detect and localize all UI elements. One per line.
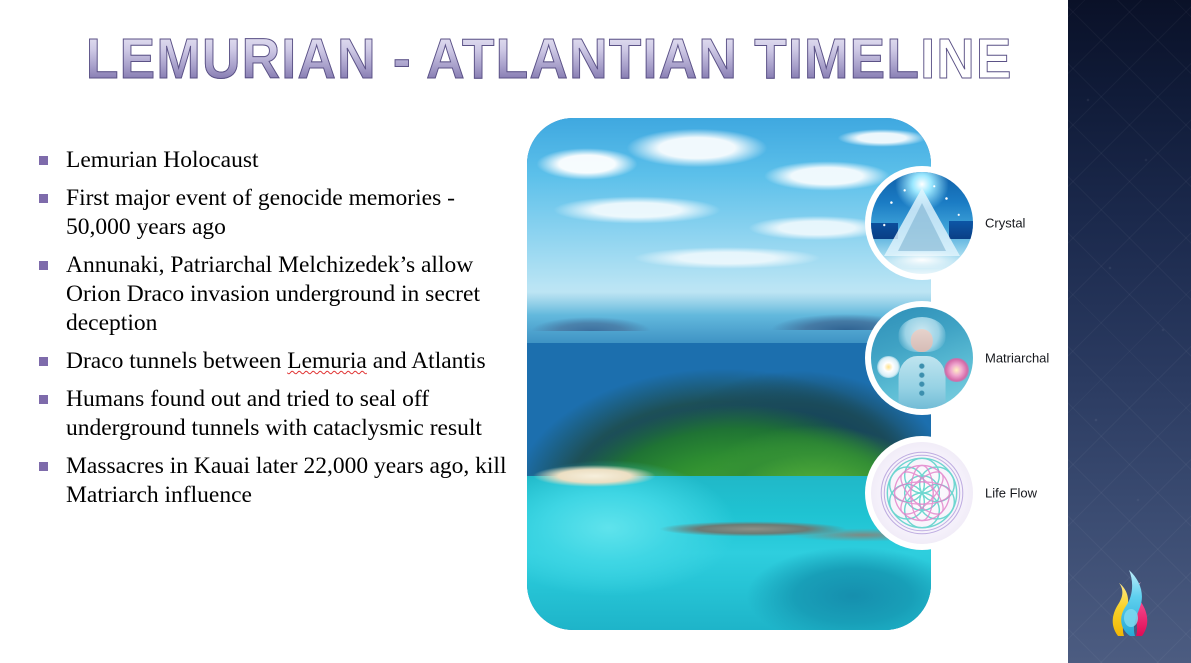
bullet-square-icon — [39, 194, 48, 203]
list-item-label: Annunaki, Patriarchal Melchizedek’s allo… — [66, 251, 514, 338]
callout-label: Life Flow — [985, 486, 1037, 501]
list-item: Draco tunnels between Lemuria and Atlant… — [34, 347, 514, 376]
list-item-text-before: Draco tunnels between — [66, 348, 287, 374]
list-item: Lemurian Holocaust — [34, 146, 514, 175]
list-item-label: First major event of genocide memories -… — [66, 184, 514, 242]
misspelled-word: Lemuria — [287, 348, 367, 374]
callout-image — [871, 172, 973, 274]
bullet-square-icon — [39, 462, 48, 471]
crystal-pyramid-icon — [871, 172, 973, 274]
crystal-art-glow — [883, 252, 961, 268]
photo-sand-beach — [527, 461, 677, 491]
callout-image — [871, 307, 973, 409]
flower-of-life-icon — [871, 442, 973, 544]
callout-label: Crystal — [985, 216, 1025, 231]
callout-crystal[interactable]: Crystal — [865, 166, 979, 280]
list-item-label: Lemurian Holocaust — [66, 146, 514, 175]
list-item-text-after: and Atlantis — [367, 348, 486, 374]
callout-life-flow[interactable]: Life Flow — [865, 436, 979, 550]
slide: LEMURIAN - ATLANTIAN TIMELINE Lemurian H… — [0, 0, 1191, 663]
goddess-art-flower — [944, 358, 968, 382]
list-item: Annunaki, Patriarchal Melchizedek’s allo… — [34, 251, 514, 338]
goddess-icon — [871, 307, 973, 409]
callout-image — [871, 442, 973, 544]
bullet-square-icon — [39, 357, 48, 366]
crystal-art-pyramid-core — [898, 203, 946, 251]
callout-matriarchal[interactable]: Matriarchal — [865, 301, 979, 415]
list-item: Massacres in Kauai later 22,000 years ag… — [34, 452, 514, 510]
bullet-list: Lemurian Holocaust First major event of … — [34, 146, 514, 519]
goddess-art-flower — [877, 356, 899, 378]
list-item: First major event of genocide memories -… — [34, 184, 514, 242]
list-item-label: Draco tunnels between Lemuria and Atlant… — [66, 347, 514, 376]
bullet-square-icon — [39, 395, 48, 404]
page-title: LEMURIAN - ATLANTIAN TIMELINE — [86, 28, 923, 90]
tri-flame-icon — [1099, 558, 1159, 640]
list-item-label: Massacres in Kauai later 22,000 years ag… — [66, 452, 514, 510]
bullet-square-icon — [39, 156, 48, 165]
callout-label: Matriarchal — [985, 351, 1049, 366]
flower-of-life-svg — [871, 442, 973, 544]
list-item: Humans found out and tried to seal off u… — [34, 385, 514, 443]
goddess-art-chakras — [912, 362, 932, 403]
tri-flame-logo — [1099, 558, 1159, 640]
bullet-square-icon — [39, 261, 48, 270]
list-item-label: Humans found out and tried to seal off u… — [66, 385, 514, 443]
